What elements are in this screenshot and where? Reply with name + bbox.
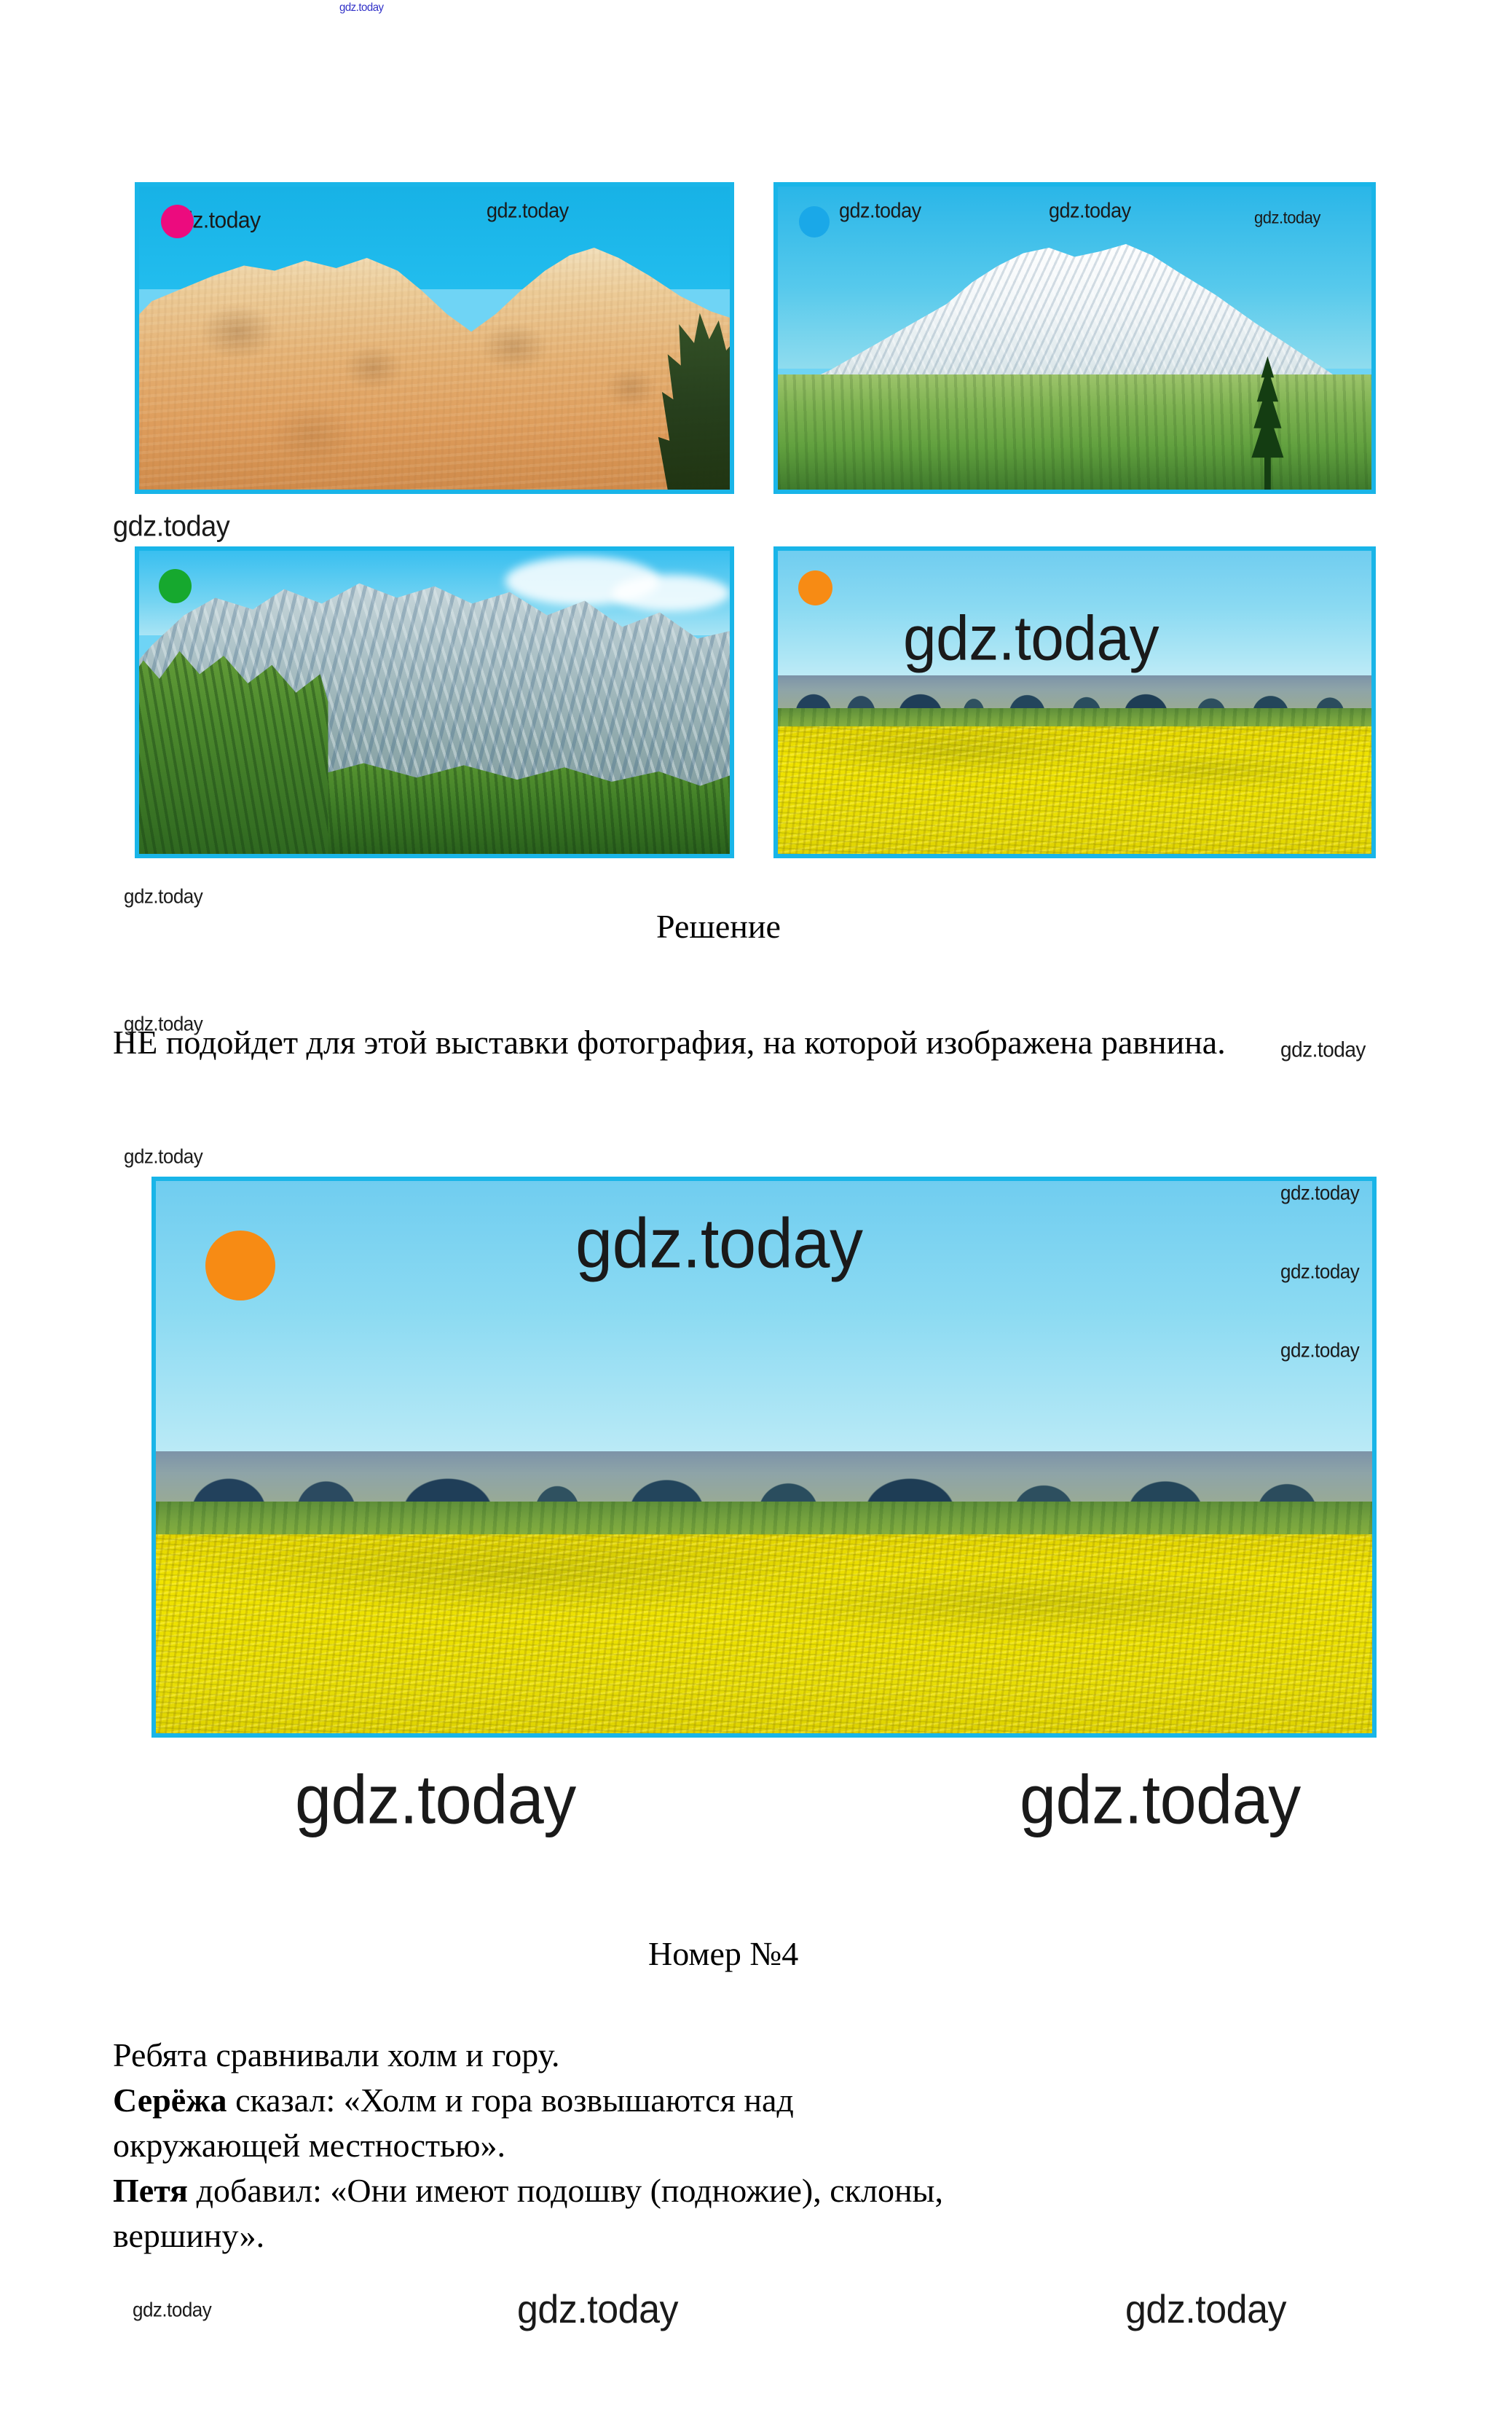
answer-photo-content: [156, 1181, 1372, 1733]
task-body: Ребята сравнивали холм и гору. Серёжа ск…: [113, 2033, 1460, 2259]
cloud: [612, 575, 730, 611]
photo-forest-mountains-content: [139, 551, 730, 854]
photo-forest-mountains[interactable]: [135, 546, 734, 858]
task-line-text: сказал: «Холм и гора возвышаются над: [227, 2082, 794, 2119]
watermark-0: gdz.today: [339, 1, 384, 15]
task-line-text: Ребята сравнивали холм и гору.: [113, 2036, 560, 2073]
meadow-layer: [778, 374, 1371, 490]
solution-body-text: НЕ подойдет для этой выставки фотография…: [113, 1024, 1226, 1061]
task-heading: Номер №4: [648, 1934, 798, 1973]
task-line-text: добавил: «Они имеют подошву (подножие), …: [188, 2172, 943, 2209]
photo-snow-mountain[interactable]: [773, 182, 1376, 494]
answer-photo-rapeseed-plain[interactable]: [151, 1177, 1377, 1738]
watermark-11: gdz.today: [124, 1145, 202, 1169]
photo-sandstone-cliffs[interactable]: [135, 182, 734, 494]
task-line: вершину».: [113, 2213, 1460, 2259]
blue-marker-dot[interactable]: [799, 206, 830, 238]
sky-layer: [778, 551, 1371, 687]
magenta-marker-dot[interactable]: [161, 205, 194, 238]
watermark-20: gdz.today: [1125, 2287, 1286, 2333]
field-texture: [778, 726, 1371, 854]
task-line-text: окружающей местностью».: [113, 2127, 505, 2164]
watermark-8: gdz.today: [124, 884, 202, 909]
watermark-6: gdz.today: [113, 511, 229, 544]
solution-body: НЕ подойдет для этой выставки фотография…: [113, 1020, 1424, 1065]
task-line-text: вершину».: [113, 2217, 264, 2254]
photo-sandstone-cliffs-content: [139, 187, 730, 490]
task-line-bold: Петя: [113, 2172, 188, 2209]
photo-rapeseed-plain[interactable]: [773, 546, 1376, 858]
task-line: Петя добавил: «Они имеют подошву (поднож…: [113, 2168, 1460, 2213]
watermark-18: gdz.today: [133, 2298, 211, 2322]
task-line: Ребята сравнивали холм и гору.: [113, 2033, 1460, 2078]
photo-rapeseed-plain-content: [778, 551, 1371, 854]
rapeseed-field: [156, 1534, 1372, 1733]
photo-snow-mountain-content: [778, 187, 1371, 490]
green-marker-dot[interactable]: [159, 569, 192, 603]
task-line-bold: Серёжа: [113, 2082, 227, 2119]
orange-marker-dot[interactable]: [205, 1231, 275, 1300]
task-line: окружающей местностью».: [113, 2123, 1460, 2168]
watermark-19: gdz.today: [517, 2287, 678, 2333]
task-line: Серёжа сказал: «Холм и гора возвышаются …: [113, 2078, 1460, 2123]
orange-marker-dot[interactable]: [798, 570, 832, 605]
solution-heading: Решение: [656, 907, 781, 946]
rapeseed-field: [778, 726, 1371, 854]
watermark-17: gdz.today: [1020, 1761, 1301, 1840]
watermark-16: gdz.today: [295, 1761, 576, 1840]
field-texture: [156, 1534, 1372, 1733]
sky-layer: [156, 1181, 1372, 1485]
